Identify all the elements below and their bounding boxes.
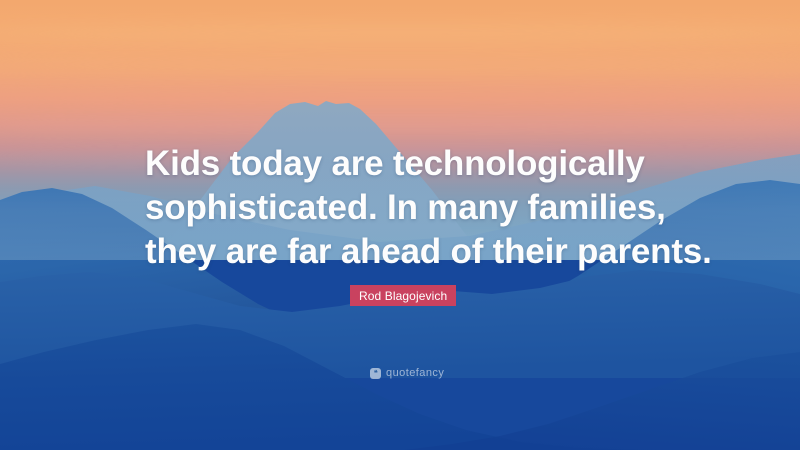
foreground-ridge: [0, 318, 800, 450]
author-badge[interactable]: Rod Blagojevich: [350, 285, 456, 306]
quote-text: Kids today are technologically sophistic…: [145, 142, 685, 274]
quotefancy-logo-icon: ❝: [370, 368, 381, 379]
cloud-streak: [0, 58, 800, 71]
quote-line-3: they are far ahead of their parents.: [145, 230, 685, 274]
quote-line-2: sophisticated. In many families,: [145, 186, 685, 230]
quote-line-1: Kids today are technologically: [145, 142, 685, 186]
author-name: Rod Blagojevich: [359, 289, 447, 303]
watermark[interactable]: ❝ quotefancy: [370, 367, 444, 379]
quote-wallpaper: Kids today are technologically sophistic…: [0, 0, 800, 450]
cloud-streak: [0, 26, 800, 42]
watermark-brand: quotefancy: [386, 367, 444, 379]
quote-glyph: ❝: [374, 370, 377, 377]
